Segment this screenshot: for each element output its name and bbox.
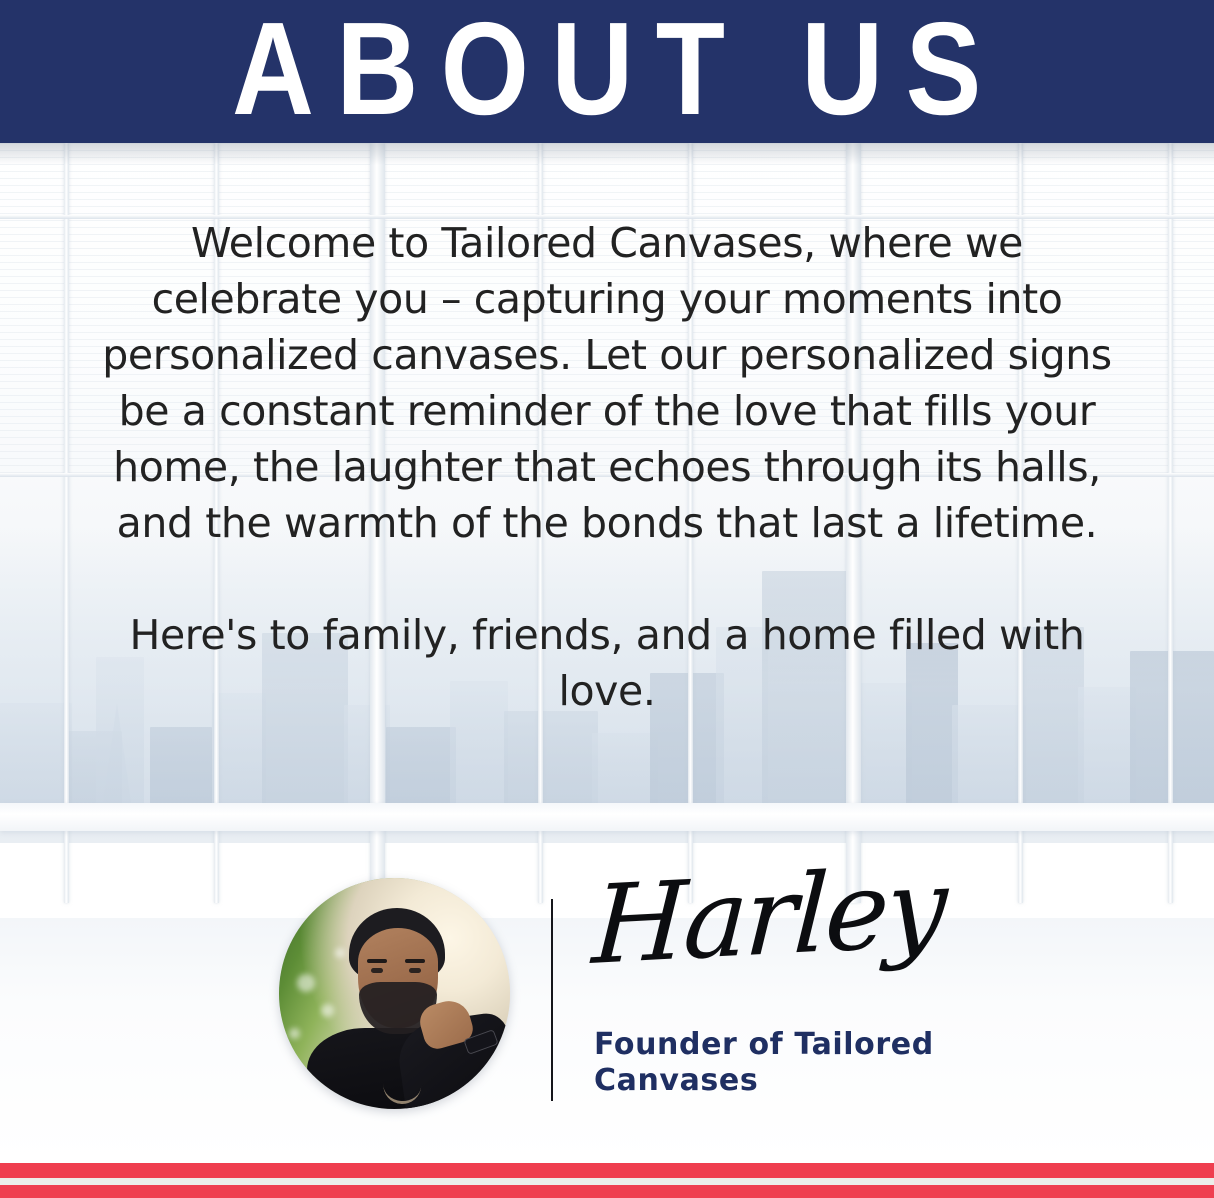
founder-role-line-2: Canvases [594,1063,758,1098]
about-us-copy: Welcome to Tailored Canvases, where we c… [0,215,1214,719]
founder-photo [279,878,510,1109]
signature-divider [551,899,553,1101]
banner-drop-shadow [0,143,1214,165]
eye-left [371,968,383,973]
about-us-page: ABOUT US Welcome to Tailored Canvases, w… [0,0,1214,1198]
founder-role-line-1: Founder of Tailored [594,1027,934,1062]
avatar [279,878,510,1109]
footer-bar-top [0,1163,1214,1178]
bokeh-light [297,974,315,992]
eye-right [409,968,421,973]
about-us-banner: ABOUT US [0,0,1214,143]
bokeh-light [335,948,345,958]
footer-bar-bottom [0,1185,1214,1198]
footer-bar-gap [0,1178,1214,1185]
eyebrow-right [405,959,425,963]
window-sill [0,803,1214,831]
bokeh-light [289,1028,300,1039]
paragraph-spacer [0,551,1214,607]
about-paragraph-2: Here's to family, friends, and a home fi… [0,607,1214,719]
founder-signature-name: Harley [590,854,947,981]
founder-signature-block: Harley Founder of Tailored Canvases [0,865,1214,1115]
about-paragraph-1: Welcome to Tailored Canvases, where we c… [0,215,1214,551]
bokeh-light [321,1004,334,1017]
page-title: ABOUT US [210,3,1004,141]
eyebrow-left [367,959,387,963]
founder-role: Founder of Tailored Canvases [594,1027,974,1099]
